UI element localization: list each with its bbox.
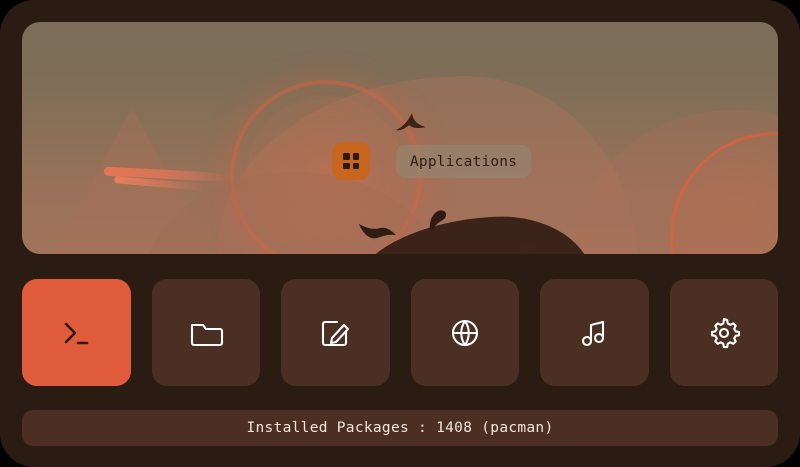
dock-item-files[interactable] <box>152 279 261 386</box>
launcher-tooltip: Applications <box>396 145 531 178</box>
dock-item-terminal[interactable] <box>22 279 131 386</box>
flying-bird-upper <box>394 110 430 138</box>
launcher-tooltip-label: Applications <box>410 154 517 170</box>
applications-launcher-button[interactable] <box>332 142 370 180</box>
dock-item-web-browser[interactable] <box>411 279 520 386</box>
dock-item-text-editor[interactable] <box>281 279 390 386</box>
globe-icon <box>443 311 487 355</box>
status-bar: Installed Packages : 1408 (pacman) <box>22 410 778 446</box>
installed-packages-text: Installed Packages : 1408 (pacman) <box>246 420 553 436</box>
folder-icon <box>184 311 228 355</box>
wallpaper-preview[interactable]: Applications <box>22 22 778 254</box>
edit-square-icon <box>313 311 357 355</box>
perched-bird <box>426 208 452 232</box>
dock-item-music[interactable] <box>540 279 649 386</box>
music-note-icon <box>572 311 616 355</box>
desktop-panel: Applications <box>0 0 800 467</box>
flying-bird-lower <box>358 220 398 242</box>
terminal-icon <box>54 311 98 355</box>
gear-icon <box>702 311 746 355</box>
app-dock <box>22 279 778 386</box>
dock-item-settings[interactable] <box>670 279 779 386</box>
grid-icon <box>343 153 359 169</box>
